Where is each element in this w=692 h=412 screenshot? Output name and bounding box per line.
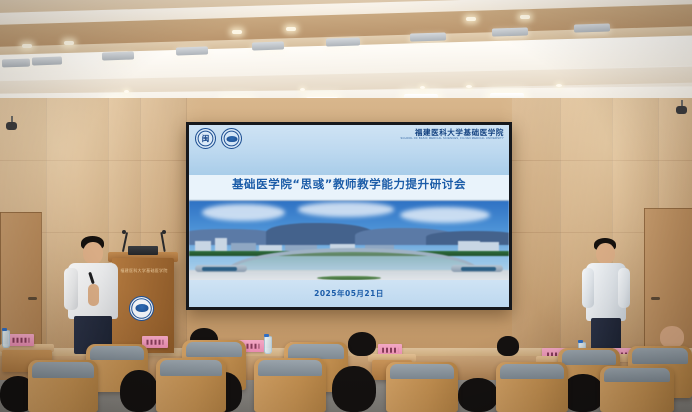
podium-microphone-head-icon [122, 230, 126, 234]
audience-head [562, 374, 604, 412]
audience-head [332, 366, 376, 412]
ceiling-light-slab [252, 41, 284, 50]
slide-date: 2025年05月21日 [314, 288, 384, 299]
audience-head [497, 336, 519, 356]
chair-headrest [160, 360, 222, 376]
university-logo-glyph: 闽 [196, 129, 215, 148]
ceiling-light-slab [326, 37, 360, 46]
chair-headrest [500, 364, 563, 379]
presentation-slide: 闽 福建医科大学基础医学院 SCHOOL OF BASIC MEDICAL SC… [189, 125, 509, 307]
chair[interactable] [28, 360, 98, 412]
attendee-arm-right [618, 268, 630, 308]
water-bottle[interactable] [2, 330, 10, 348]
chair-headrest [604, 368, 669, 382]
chair-headrest [258, 360, 321, 376]
ceiling-downlight [22, 44, 32, 48]
slide-logos: 闽 [195, 128, 242, 149]
ceiling-downlight [420, 86, 425, 89]
bottle-cap [2, 328, 7, 331]
ceiling-downlight [466, 85, 472, 88]
door-handle-icon [28, 297, 37, 300]
photo-building [215, 238, 228, 252]
chair[interactable] [600, 366, 674, 412]
presenter-head [83, 242, 103, 264]
podium-laptop [128, 246, 158, 255]
chair-headrest [32, 362, 94, 378]
door-handle-icon [651, 297, 660, 300]
chair-headrest [390, 364, 453, 379]
slide-footer-band: 2025年05月21日 [189, 280, 509, 307]
ceiling-light-slab [492, 27, 528, 36]
attendee-head [596, 243, 615, 264]
audience-head [120, 370, 158, 412]
slide-title: 基础医学院“思彧”教师教学能力提升研讨会 [189, 176, 509, 192]
chair-headrest [562, 350, 617, 365]
ceiling-light-slab [32, 56, 62, 65]
camera-body [676, 106, 687, 114]
namecard-text [382, 348, 398, 353]
ceiling-downlight [520, 15, 530, 19]
organization-name-en: SCHOOL OF BASIC MEDICAL SCIENCES, FUJIAN… [400, 137, 504, 141]
slide-campus-photo [189, 200, 509, 282]
ceiling-light-slab [176, 46, 208, 55]
slide-organization: 福建医科大学基础医学院 SCHOOL OF BASIC MEDICAL SCIE… [400, 128, 504, 141]
audience-head [660, 326, 684, 348]
school-seal-icon [221, 128, 242, 149]
ceiling-downlight [64, 41, 74, 45]
ceiling-light-slab [2, 59, 30, 68]
podium-microphone-head-icon [162, 230, 166, 234]
namecard[interactable] [8, 334, 34, 346]
photo-building-glass [202, 267, 237, 271]
chair-headrest [632, 348, 688, 364]
bottle-cap [578, 340, 583, 343]
ceiling-downlight [286, 27, 296, 31]
attendee-arm-left [582, 268, 594, 308]
ceiling-downlight [466, 17, 476, 21]
presenter-forearm-right [88, 284, 99, 306]
chair[interactable] [156, 358, 226, 412]
chair[interactable] [254, 358, 326, 412]
chair[interactable] [386, 362, 458, 412]
chair[interactable] [496, 362, 568, 412]
ceiling [0, 0, 692, 112]
namecard-text [12, 338, 29, 343]
photo-cloud [400, 207, 490, 223]
chair-headrest [186, 342, 242, 357]
podium-emblem-icon [129, 296, 154, 321]
ceiling-downlight [556, 84, 562, 87]
audience-head [348, 332, 376, 356]
namecard-text [146, 340, 163, 345]
ceiling-downlight [300, 88, 305, 91]
photo-cloud [298, 202, 394, 216]
audience-head [458, 378, 498, 412]
projection-screen[interactable]: 闽 福建医科大学基础医学院 SCHOOL OF BASIC MEDICAL SC… [186, 122, 512, 310]
ceiling-downlight [124, 90, 129, 93]
podium-engraved-text: 福建医科大学基础医学院 [118, 268, 170, 274]
ceiling-downlight [232, 30, 242, 34]
ceiling-light-slab [410, 32, 446, 41]
ceiling-light-slab [574, 23, 610, 32]
standing-attendee-right [582, 238, 630, 354]
presenter-arm-left [64, 268, 78, 310]
presenter-left [62, 236, 124, 354]
ceiling-light-slab [102, 51, 134, 60]
photo-building-glass [461, 267, 496, 271]
camera-body [6, 122, 17, 130]
university-logo-icon: 闽 [195, 128, 216, 149]
slide-header-band: 闽 福建医科大学基础医学院 SCHOOL OF BASIC MEDICAL SC… [189, 125, 509, 175]
chair-headrest [90, 346, 145, 360]
chair-headrest [288, 344, 344, 359]
conference-hall-scene: 闽 福建医科大学基础医学院 SCHOOL OF BASIC MEDICAL SC… [0, 0, 692, 412]
water-bottle[interactable] [264, 336, 272, 354]
organization-name-cn: 福建医科大学基础医学院 [400, 128, 504, 137]
bottle-cap [264, 334, 269, 337]
